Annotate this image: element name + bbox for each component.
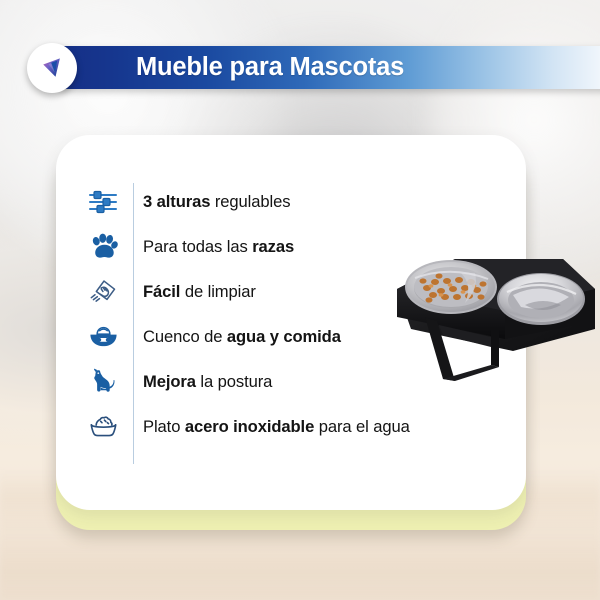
feature-text-bold: Fácil: [143, 282, 180, 301]
header-banner: Mueble para Mascotas: [60, 46, 600, 89]
sitting-dog-icon: [56, 367, 130, 396]
feature-row: Plato acero inoxidable para el agua: [56, 404, 526, 449]
feature-label: Fácil de limpiar: [130, 282, 256, 302]
feature-text-post: la postura: [196, 372, 272, 391]
feature-text-bold: 3 alturas: [143, 192, 210, 211]
feature-text-pre: Cuenco de: [143, 327, 227, 346]
feature-text-bold: acero inoxidable: [185, 417, 314, 436]
feature-text-bold: razas: [252, 237, 294, 256]
feature-text-post: para el agua: [314, 417, 410, 436]
feature-text-bold: agua y comida: [227, 327, 341, 346]
feature-text-pre: Para todas las: [143, 237, 252, 256]
feature-row: Fácil de limpiar: [56, 269, 526, 314]
feature-row: 3 alturas regulables: [56, 179, 526, 224]
feature-label: Cuenco de agua y comida: [130, 327, 341, 347]
filled-food-bowl-icon: [56, 324, 130, 349]
feature-label: Para todas las razas: [130, 237, 294, 257]
feature-row: Mejora la postura: [56, 359, 526, 404]
feature-label: Mejora la postura: [130, 372, 272, 392]
feature-label: Plato acero inoxidable para el agua: [130, 417, 410, 437]
feature-divider: [133, 183, 134, 464]
feature-text-bold: Mejora: [143, 372, 196, 391]
promo-graphic: Mueble para Mascotas: [0, 0, 600, 600]
feature-label: 3 alturas regulables: [130, 192, 290, 212]
sliders-adjust-icon: [56, 189, 130, 215]
feature-text-pre: Plato: [143, 417, 185, 436]
paw-print-icon: [56, 233, 130, 260]
cleaning-cloth-icon: [56, 277, 130, 306]
page-title: Mueble para Mascotas: [136, 53, 404, 82]
brand-triangle-logo-icon: [38, 54, 66, 82]
feature-text-post: regulables: [210, 192, 290, 211]
feature-row: Para todas las razas: [56, 224, 526, 269]
brand-logo-badge[interactable]: [27, 43, 77, 93]
feature-row: Cuenco de agua y comida: [56, 314, 526, 359]
feature-text-post: de limpiar: [180, 282, 255, 301]
feature-list: 3 alturas regulables Para todas las raza…: [56, 135, 526, 510]
outline-food-bowl-icon: [56, 414, 130, 439]
